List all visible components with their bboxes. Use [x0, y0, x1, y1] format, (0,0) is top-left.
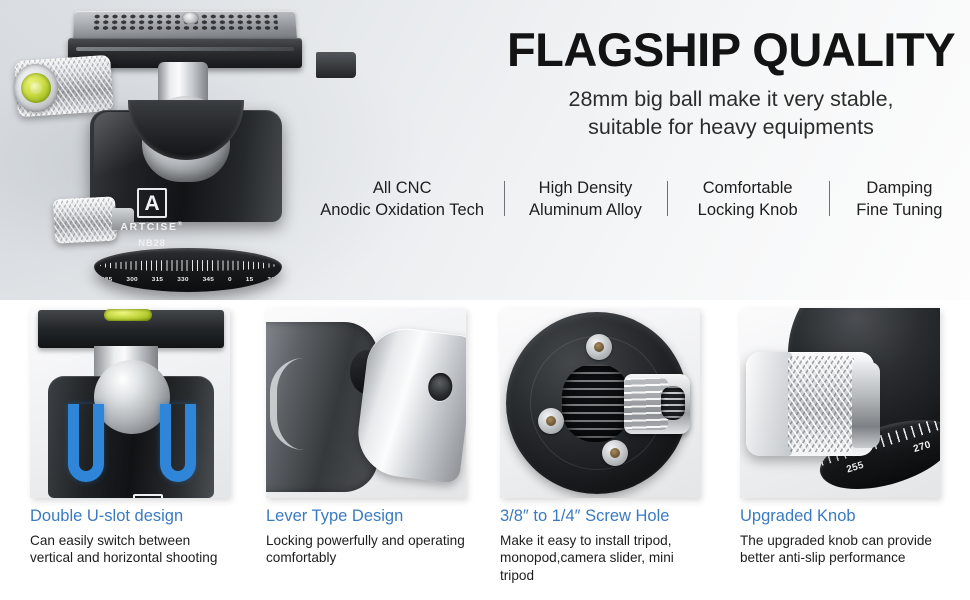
banner-headline: FLAGSHIP QUALITY — [500, 26, 962, 73]
lever-hole — [427, 372, 454, 403]
scale-ticks — [100, 260, 276, 271]
brand-name-text: ARTCISE — [120, 221, 177, 233]
scale-number: 270 — [912, 439, 932, 455]
knob-knurl-texture — [788, 356, 854, 452]
feature-line-1: All CNC — [306, 178, 498, 200]
feature-strip: All CNC Anodic Oxidation Tech High Densi… — [300, 178, 970, 238]
artcise-logo-mark: A — [137, 188, 167, 218]
feature-card-upgraded-knob: 255 270 Upgraded Knob The upgraded knob … — [740, 308, 940, 567]
product-model-label: NB28 — [114, 238, 190, 249]
hero-product-image: A ARTCISE® NB28 285 300 315 330 345 0 15 — [8, 0, 338, 300]
card-title: Upgraded Knob — [740, 507, 940, 527]
feature-line-2: Locking Knob — [673, 200, 823, 222]
registered-mark: ® — [178, 222, 184, 228]
knob-collar — [852, 362, 880, 448]
panning-base-scale: 285 300 315 330 345 0 15 30 — [94, 248, 282, 292]
feature-card-screw-hole: 3/8″ to 1/4″ Screw Hole Make it easy to … — [500, 308, 700, 585]
feature-cards-row: A ARTCISE® Double U-slot design Can easi… — [0, 308, 970, 600]
card-title: Lever Type Design — [266, 507, 466, 527]
level-bubble — [30, 82, 43, 95]
upgraded-knob-photo: 255 270 — [740, 308, 940, 498]
bubble-level-knob — [14, 55, 114, 118]
hex-screw — [586, 334, 612, 360]
artcise-brand-name: ARTCISE® — [114, 221, 190, 233]
thread-adapter-bushing — [624, 374, 690, 434]
feature-line-2: Anodic Oxidation Tech — [306, 200, 498, 222]
card1-bubble-level — [104, 309, 152, 321]
feature-item-knob: Comfortable Locking Knob — [667, 178, 829, 222]
feature-card-double-u-slot: A ARTCISE® Double U-slot design Can easi… — [30, 308, 230, 567]
feature-line-1: Comfortable — [673, 178, 823, 200]
card1-ball-sphere — [94, 360, 170, 434]
card1-top-plate — [38, 310, 224, 348]
scale-number: 15 — [246, 276, 254, 282]
knurl-texture — [53, 196, 117, 243]
card-title: 3/8″ to 1/4″ Screw Hole — [500, 507, 700, 527]
hex-screw — [602, 440, 628, 466]
feature-line-2: Fine Tuning — [835, 200, 964, 222]
subheadline-line-2: suitable for heavy equipments — [500, 114, 962, 142]
scale-numbers: 285 300 315 330 345 0 15 30 — [94, 272, 282, 286]
feature-item-cnc: All CNC Anodic Oxidation Tech — [300, 178, 504, 222]
knurled-locking-knob — [746, 352, 874, 456]
scale-number: 300 — [126, 276, 137, 282]
feature-line-2: Aluminum Alloy — [510, 200, 660, 222]
hero-banner: A ARTCISE® NB28 285 300 315 330 345 0 15 — [0, 0, 970, 300]
product-brand-badge: A ARTCISE® NB28 — [114, 188, 190, 249]
scale-number: 315 — [152, 276, 163, 282]
feature-line-1: Damping — [835, 178, 964, 200]
scale-number: 255 — [845, 459, 865, 475]
locking-knob — [53, 196, 117, 243]
card-title: Double U-slot design — [30, 507, 230, 527]
feature-item-alloy: High Density Aluminum Alloy — [504, 178, 666, 222]
level-glass — [20, 72, 52, 104]
scale-number: 330 — [177, 276, 188, 282]
u-slot-right-highlight — [160, 404, 196, 482]
screw-hole-photo — [500, 308, 700, 498]
subheadline-line-1: 28mm big ball make it very stable, — [500, 86, 962, 114]
card1-ballhead-body: A ARTCISE® — [48, 376, 214, 498]
product-marketing-page: A ARTCISE® NB28 285 300 315 330 345 0 15 — [0, 0, 970, 600]
threaded-screw-hole — [562, 364, 630, 442]
scale-number: 345 — [203, 276, 214, 282]
card-description: The upgraded knob can provide better ant… — [740, 532, 940, 567]
feature-card-lever-type: Lever Type Design Locking powerfully and… — [266, 308, 466, 567]
scale-number: 285 — [101, 276, 112, 282]
knob-end-cap — [746, 352, 792, 456]
scale-number: 30 — [267, 276, 275, 282]
hex-screw — [538, 408, 564, 434]
lever-type-photo — [266, 308, 466, 498]
banner-subheadline: 28mm big ball make it very stable, suita… — [500, 86, 962, 142]
card1-brand-badge: A ARTCISE® — [118, 494, 178, 498]
card-description: Make it easy to install tripod, monopod,… — [500, 532, 700, 585]
card-description: Locking powerfully and operating comfort… — [266, 532, 466, 567]
adapter-inner-thread — [661, 386, 685, 420]
u-slot-left-highlight — [68, 404, 104, 482]
card-description: Can easily switch between vertical and h… — [30, 532, 230, 567]
scale-number: 0 — [228, 276, 232, 282]
artcise-logo-mark: A — [133, 494, 163, 498]
feature-line-1: High Density — [510, 178, 660, 200]
double-u-slot-photo: A ARTCISE® — [30, 308, 230, 498]
feature-item-damping: Damping Fine Tuning — [829, 178, 970, 222]
plate-screw — [182, 12, 199, 24]
clamp-tab — [316, 52, 356, 78]
